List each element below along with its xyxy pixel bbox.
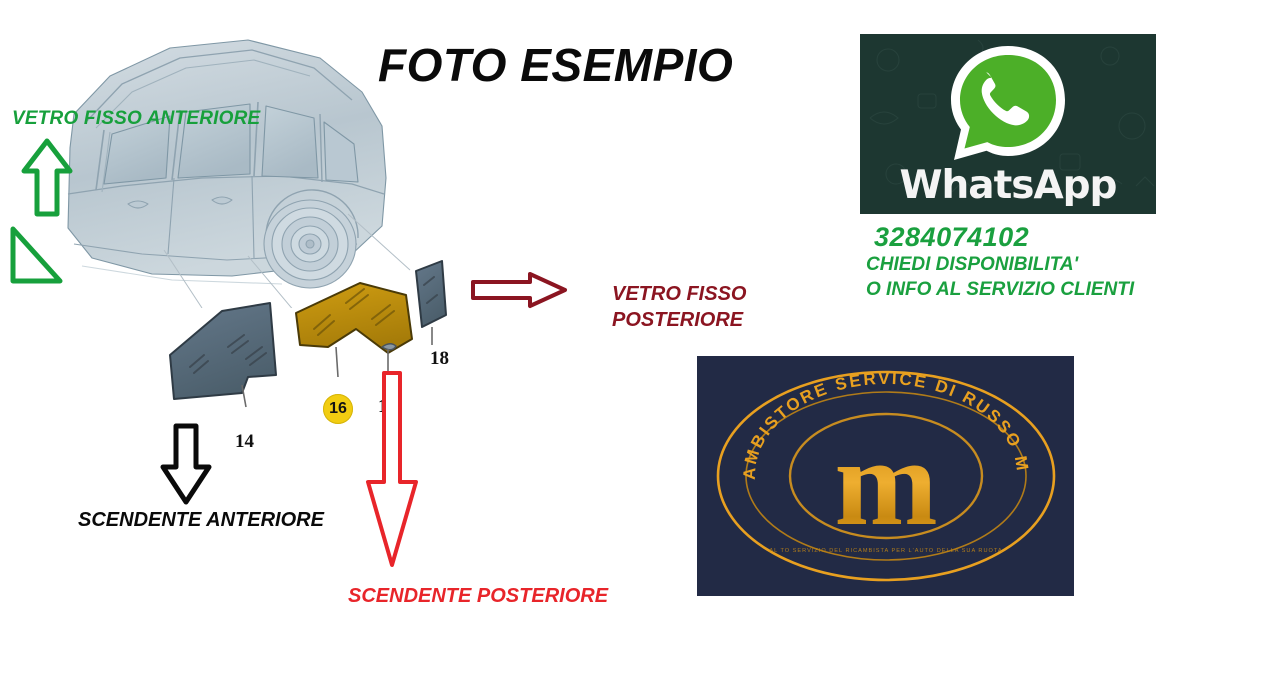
contact-line-2: O INFO AL SERVIZIO CLIENTI [866, 277, 1206, 302]
logo-monogram: m [834, 414, 937, 551]
red-long-down-arrow-icon [362, 370, 422, 575]
company-logo: MRICAMBISTORE SERVICE DI RUSSO MARCO m A… [697, 356, 1074, 596]
whatsapp-wordmark: WhatsApp [860, 163, 1156, 208]
exploded-glass-parts [150, 255, 480, 435]
part-number-badge-16: 16 [323, 394, 353, 424]
logo-subtext: AL TO SERVIZIO DEL RICAMBISTA PER L'AUTO… [769, 548, 1002, 554]
label-vetro-fisso-posteriore: VETRO FISSO POSTERIORE [612, 281, 746, 333]
label-scendente-anteriore: SCENDENTE ANTERIORE [78, 509, 324, 532]
contact-line-1: CHIEDI DISPONIBILITA' [866, 252, 1206, 277]
part-number-18: 18 [430, 348, 449, 370]
black-down-arrow-icon [158, 423, 214, 510]
contact-block: 3284074102 CHIEDI DISPONIBILITA' O INFO … [866, 222, 1206, 302]
label-scendente-posteriore: SCENDENTE POSTERIORE [348, 585, 608, 608]
phone-number[interactable]: 3284074102 [874, 222, 1206, 252]
green-up-arrow-icon [20, 138, 74, 223]
whatsapp-phone-icon [942, 40, 1074, 173]
green-triangle-icon [8, 224, 64, 291]
dark-red-right-arrow-icon [470, 271, 568, 314]
part-number-14: 14 [235, 431, 254, 453]
whatsapp-banner[interactable]: WhatsApp [860, 34, 1156, 214]
page-title: FOTO ESEMPIO [378, 38, 798, 92]
label-vetro-fisso-anteriore: VETRO FISSO ANTERIORE [12, 108, 260, 130]
